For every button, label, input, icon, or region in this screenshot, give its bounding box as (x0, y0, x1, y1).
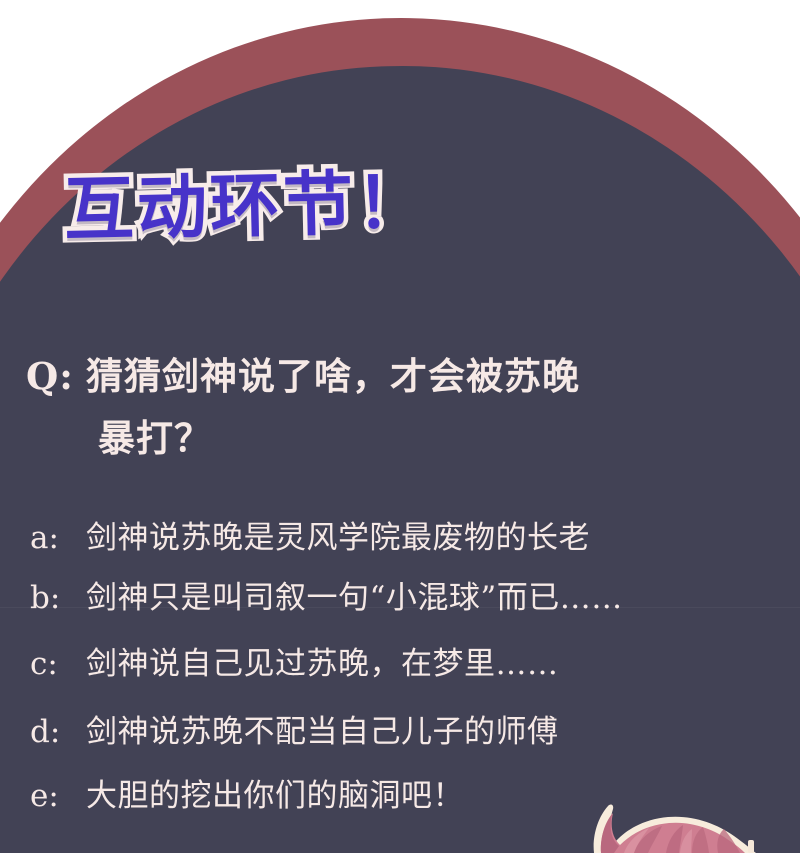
option-text-a: 剑神说苏晚是灵风学院最废物的长老 (86, 508, 590, 568)
list-item[interactable]: b: 剑神只是叫司叙一句“小混球”而已…… (30, 568, 790, 628)
panel-content: 互动环节！ Q:猜猜剑神说了啥，才会被苏晚 暴打？ a: 剑神说苏晚是灵风学院最… (0, 0, 800, 853)
option-text-d: 剑神说苏晚不配当自己儿子的师傅 (86, 702, 559, 762)
comic-panel-page: 互动环节！ Q:猜猜剑神说了啥，才会被苏晚 暴打？ a: 剑神说苏晚是灵风学院最… (0, 0, 800, 853)
question-block: Q:猜猜剑神说了啥，才会被苏晚 暴打？ (26, 345, 766, 469)
list-item[interactable]: a: 剑神说苏晚是灵风学院最废物的长老 (30, 508, 790, 568)
option-key-c: c: (30, 634, 86, 694)
question-label: Q: (26, 345, 86, 407)
list-item[interactable]: d: 剑神说苏晚不配当自己儿子的师傅 (30, 702, 790, 762)
character-accessory-mark (748, 840, 754, 853)
option-text-b: 剑神只是叫司叙一句“小混球”而已…… (86, 568, 623, 628)
option-key-e: e: (30, 766, 86, 826)
option-key-b: b: (30, 568, 86, 628)
question-line-1: 猜猜剑神说了啥，才会被苏晚 (86, 354, 580, 398)
question-line-2: 暴打？ (26, 407, 766, 469)
pink-haired-character-hair (588, 800, 800, 853)
option-text-e: 大胆的挖出你们的脑洞吧！ (86, 766, 464, 826)
page-title: 互动环节！ (63, 159, 430, 253)
list-item[interactable]: c: 剑神说自己见过苏晚，在梦里…… (30, 634, 790, 694)
answer-options-list: a: 剑神说苏晚是灵风学院最废物的长老 b: 剑神只是叫司叙一句“小混球”而已…… (30, 508, 790, 826)
option-key-a: a: (30, 508, 86, 568)
option-key-d: d: (30, 702, 86, 762)
option-text-c: 剑神说自己见过苏晚，在梦里…… (86, 634, 559, 694)
